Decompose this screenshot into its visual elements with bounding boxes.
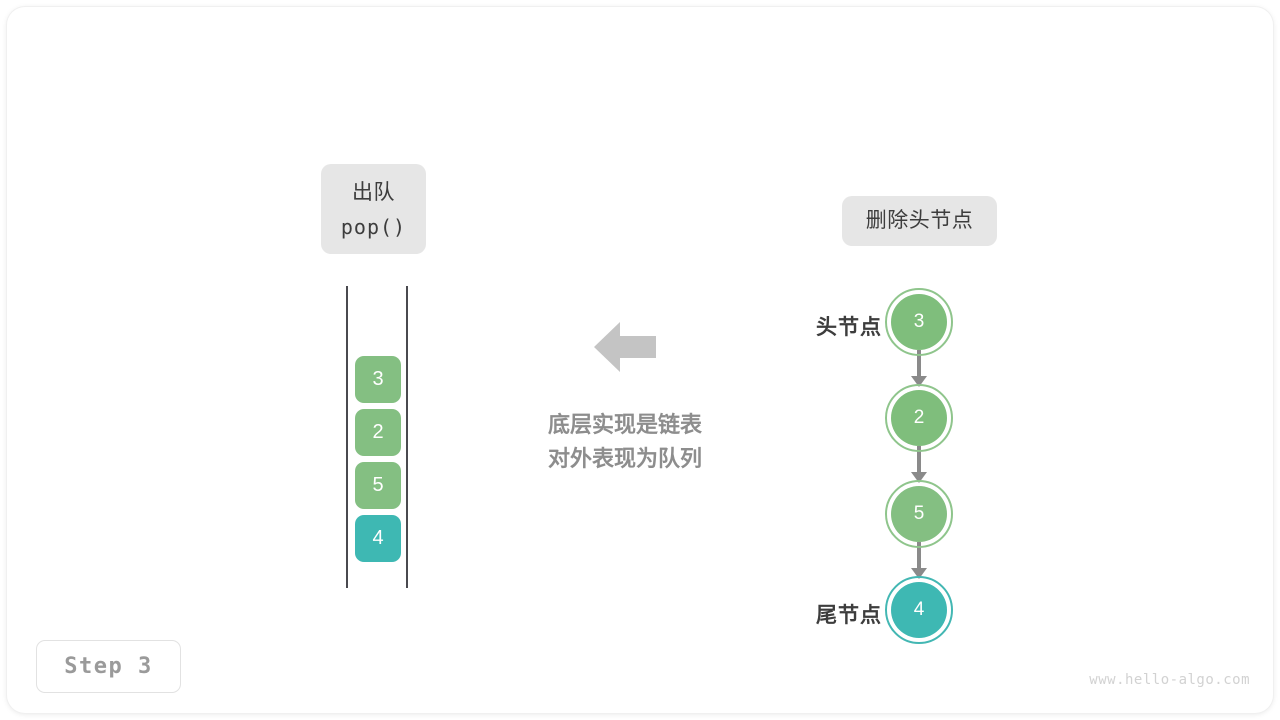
queue-container: 3 2 5 4 (344, 286, 412, 588)
queue-rail-right (406, 286, 408, 588)
delete-head-node-chip: 删除头节点 (842, 196, 997, 246)
list-node: 4 (891, 582, 947, 638)
flow-caption-line-1: 底层实现是链表 (500, 408, 750, 442)
delete-head-chip-label: 删除头节点 (866, 204, 974, 238)
queue-rail-left (346, 286, 348, 588)
queue-item: 5 (355, 462, 401, 509)
left-arrow-icon (594, 318, 656, 376)
watermark: www.hello-algo.com (1089, 672, 1250, 688)
flow-caption: 底层实现是链表 对外表现为队列 (500, 408, 750, 476)
tail-node-label: 尾节点 (782, 599, 882, 629)
queue-item: 3 (355, 356, 401, 403)
pop-operation-chip: 出队 pop() (321, 164, 426, 254)
list-node: 5 (891, 486, 947, 542)
pop-chip-line-2: pop() (341, 210, 406, 244)
list-node: 2 (891, 390, 947, 446)
queue-item-list: 3 2 5 4 (355, 356, 401, 562)
step-badge: Step 3 (36, 640, 181, 693)
linked-list-container: 3 2 5 4 头节点 尾节点 (760, 286, 1010, 650)
figure-canvas: 出队 pop() 删除头节点 3 2 5 4 底层实现是链表 对外表现为队列 (0, 0, 1280, 720)
head-node-label: 头节点 (782, 311, 882, 341)
queue-item: 2 (355, 409, 401, 456)
queue-item: 4 (355, 515, 401, 562)
list-node: 3 (891, 294, 947, 350)
flow-caption-line-2: 对外表现为队列 (500, 442, 750, 476)
pop-chip-line-1: 出队 (352, 176, 395, 210)
